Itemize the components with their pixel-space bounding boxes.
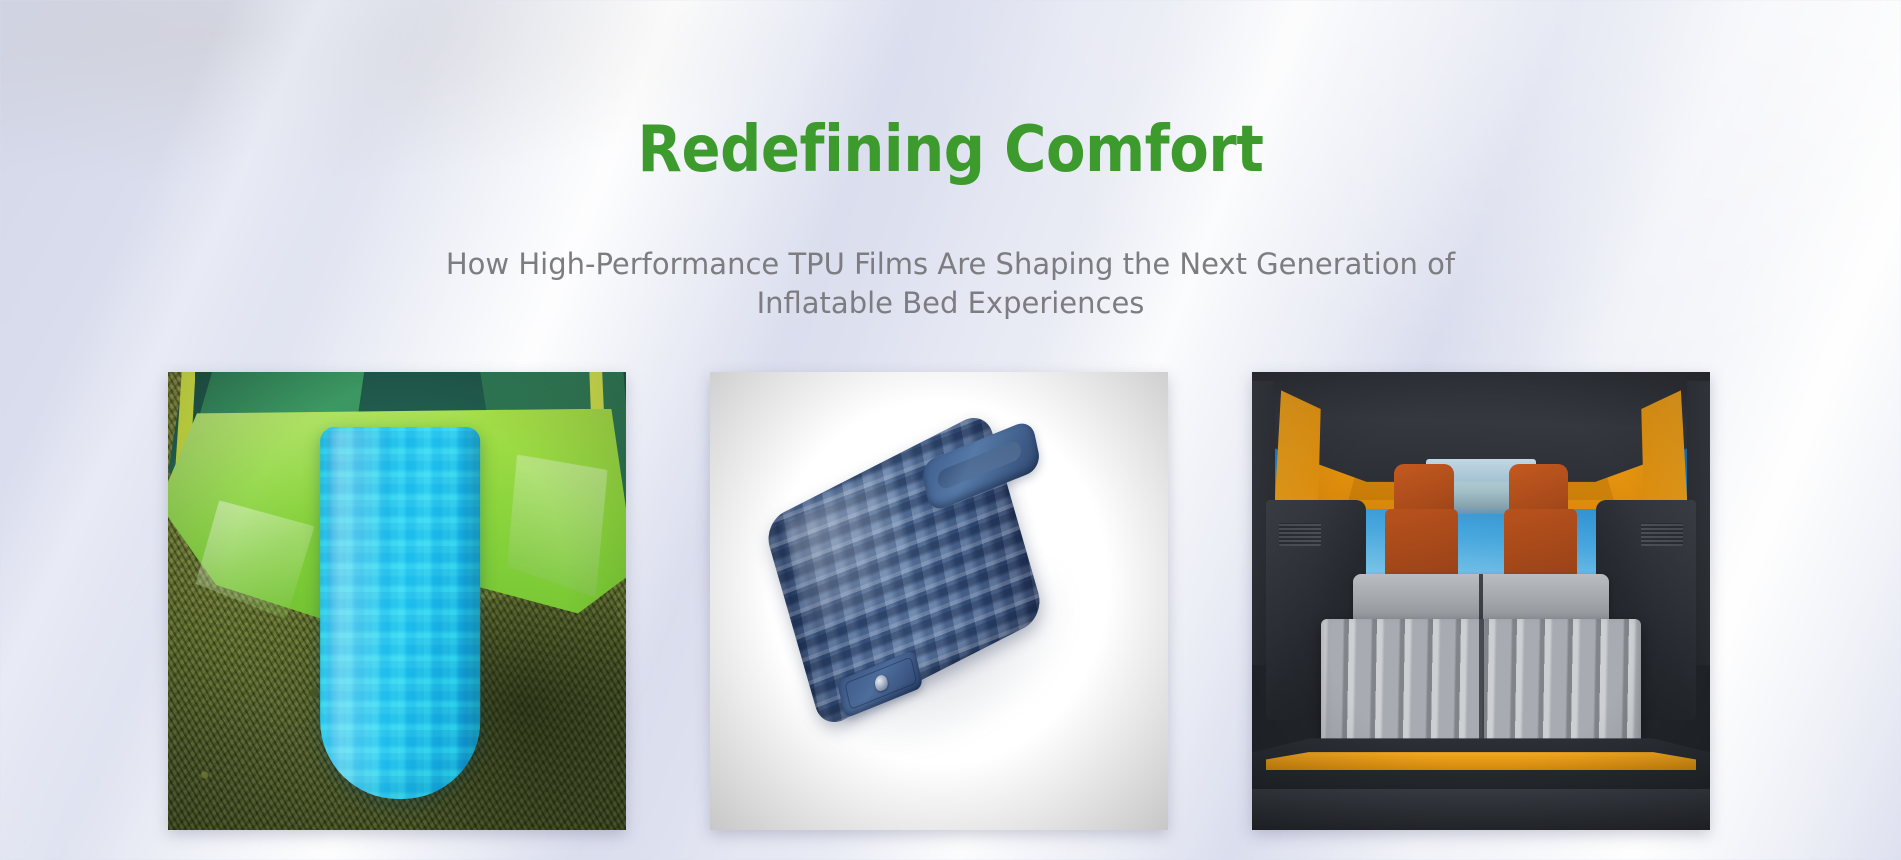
blue-sleeping-pad xyxy=(320,427,480,799)
gallery-image-camping-sleeping-pad-in-tent[interactable] xyxy=(168,372,626,830)
page-subtitle: How High-Performance TPU Films Are Shapi… xyxy=(416,245,1486,323)
ground-floor xyxy=(1252,789,1710,830)
image-gallery xyxy=(168,372,1710,830)
slide-root: Redefining Comfort How High-Performance … xyxy=(0,0,1901,860)
page-title: Redefining Comfort xyxy=(95,118,1806,182)
gallery-image-navy-inflatable-sleeping-pad[interactable] xyxy=(710,372,1168,830)
orange-bumper-strip xyxy=(1266,752,1697,770)
speaker-grille-left xyxy=(1279,523,1320,546)
speaker-grille-right xyxy=(1641,523,1682,546)
air-bed-headrest-section xyxy=(1353,574,1609,624)
gallery-image-car-trunk-inflatable-air-bed[interactable] xyxy=(1252,372,1710,830)
front-seatback-right xyxy=(1504,509,1577,582)
front-seatback-left xyxy=(1385,509,1458,582)
sleeping-pad-side-edge xyxy=(458,427,480,799)
sleeping-pad-highlight xyxy=(330,427,384,799)
inflation-valve-icon xyxy=(874,673,889,693)
